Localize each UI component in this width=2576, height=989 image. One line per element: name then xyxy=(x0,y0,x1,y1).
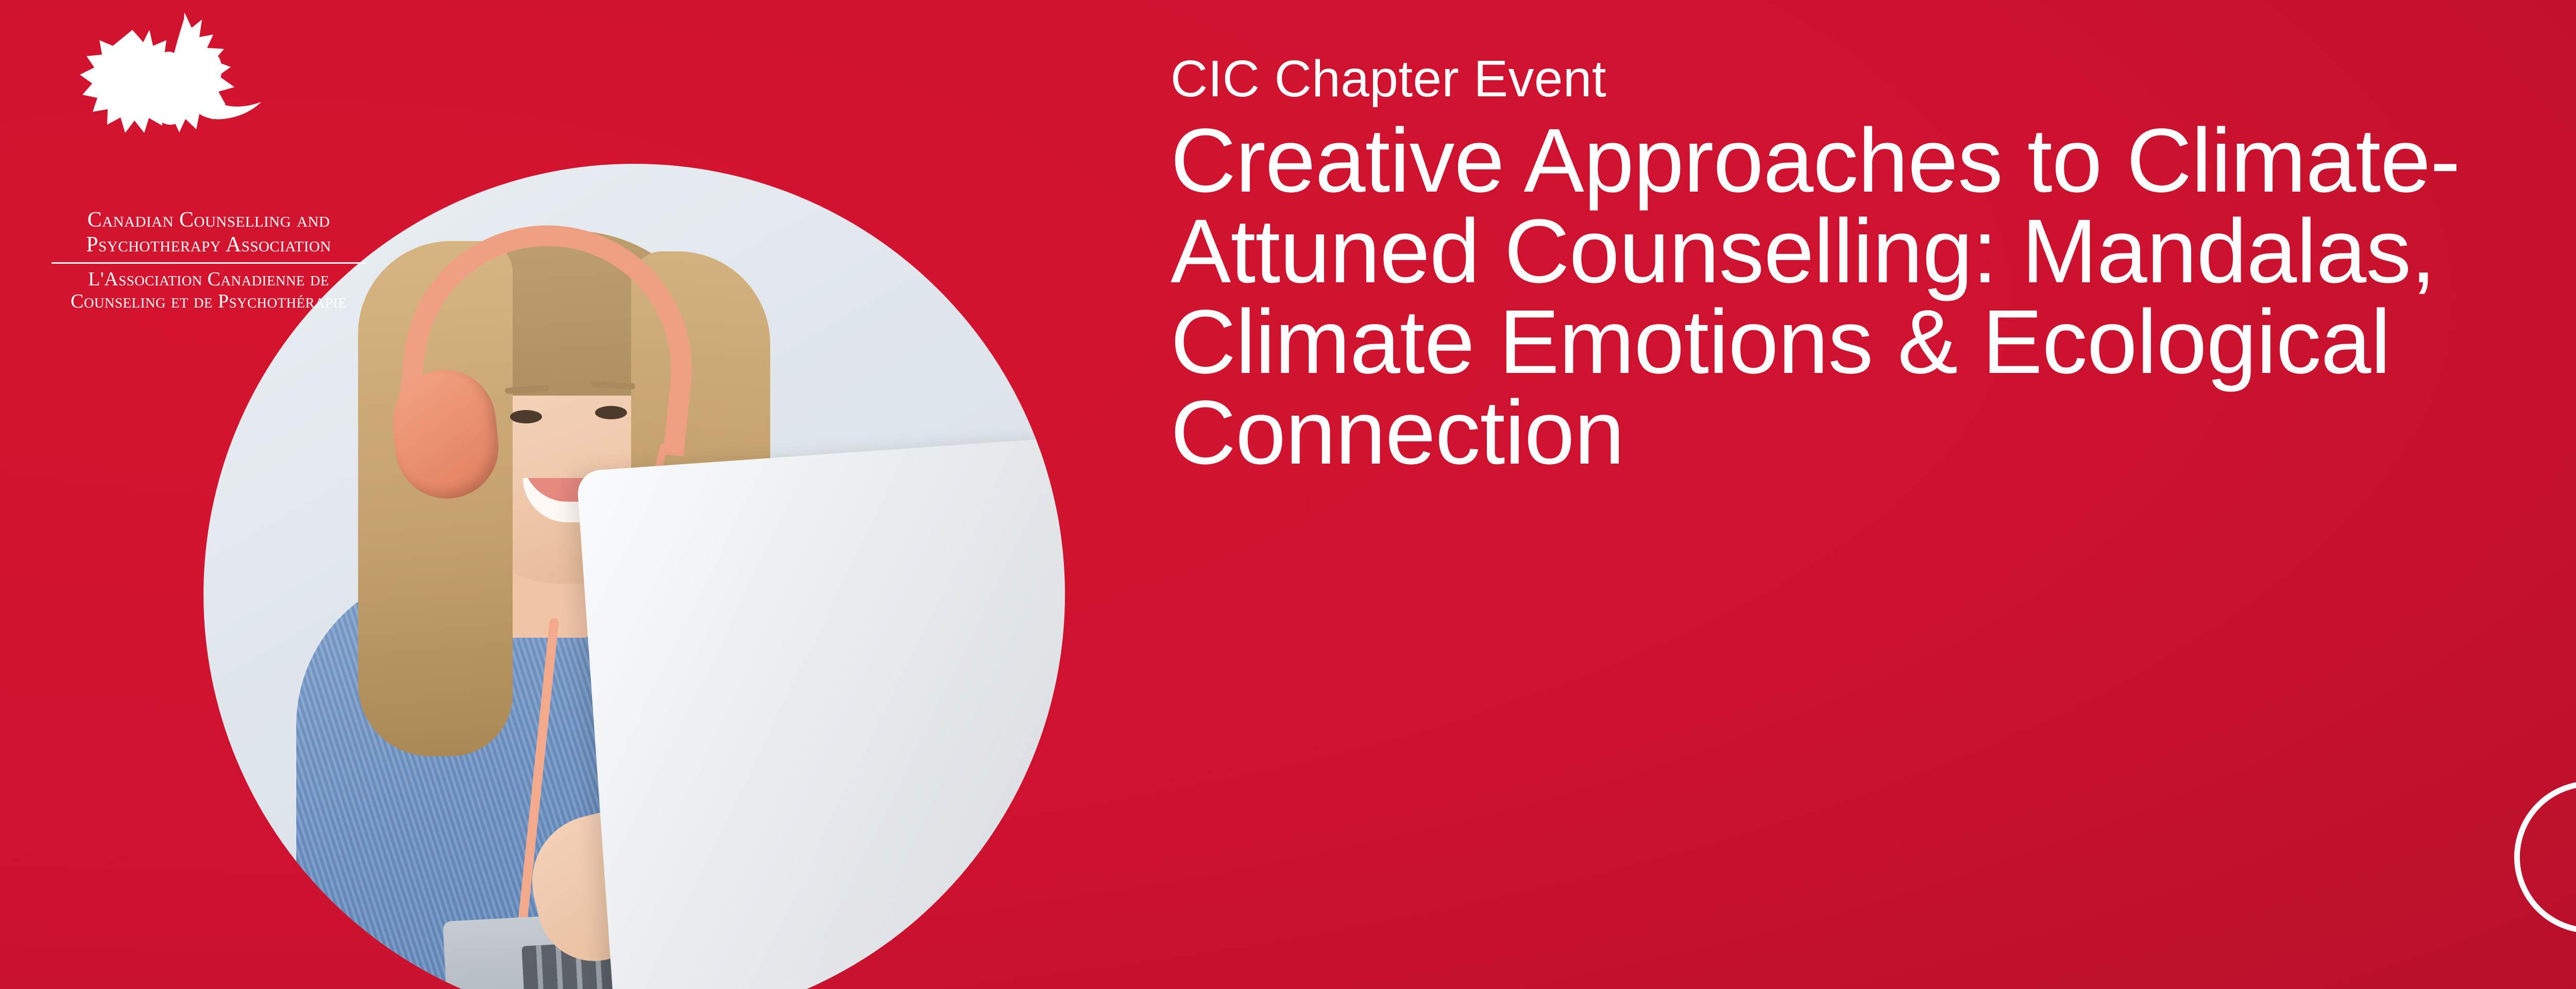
ccpa-logo: Canadian Counselling and Psychotherapy A… xyxy=(28,9,389,313)
register-now-label: REGISTER NOW xyxy=(2553,787,2576,928)
event-title-line-1: Creative Approaches to Climate- xyxy=(1171,115,2576,206)
ccpa-logo-line-fr-2: Counseling et de Psychothérapie xyxy=(28,291,389,313)
maple-leaf-faces-icon xyxy=(70,9,301,205)
event-title-line-2: Attuned Counselling: Mandalas, xyxy=(1171,206,2576,297)
ccpa-logo-divider xyxy=(52,262,366,264)
event-banner: Canadian Counselling and Psychotherapy A… xyxy=(0,0,2576,989)
ccpa-logo-text: Canadian Counselling and Psychotherapy A… xyxy=(28,208,389,313)
ccpa-logo-line-en-2: Psychotherapy Association xyxy=(28,233,389,258)
event-title: Creative Approaches to Climate- Attuned … xyxy=(1171,115,2576,478)
event-title-line-3: Climate Emotions & Ecological xyxy=(1171,297,2576,387)
ccpa-logo-line-en-1: Canadian Counselling and xyxy=(28,208,389,233)
ccpa-logo-line-fr-1: L'Association Canadienne de xyxy=(28,268,389,291)
banner-content: CIC Chapter Event Creative Approaches to… xyxy=(1171,0,2576,989)
event-eyebrow: CIC Chapter Event xyxy=(1171,49,1606,109)
event-title-line-4: Connection xyxy=(1171,387,2576,478)
